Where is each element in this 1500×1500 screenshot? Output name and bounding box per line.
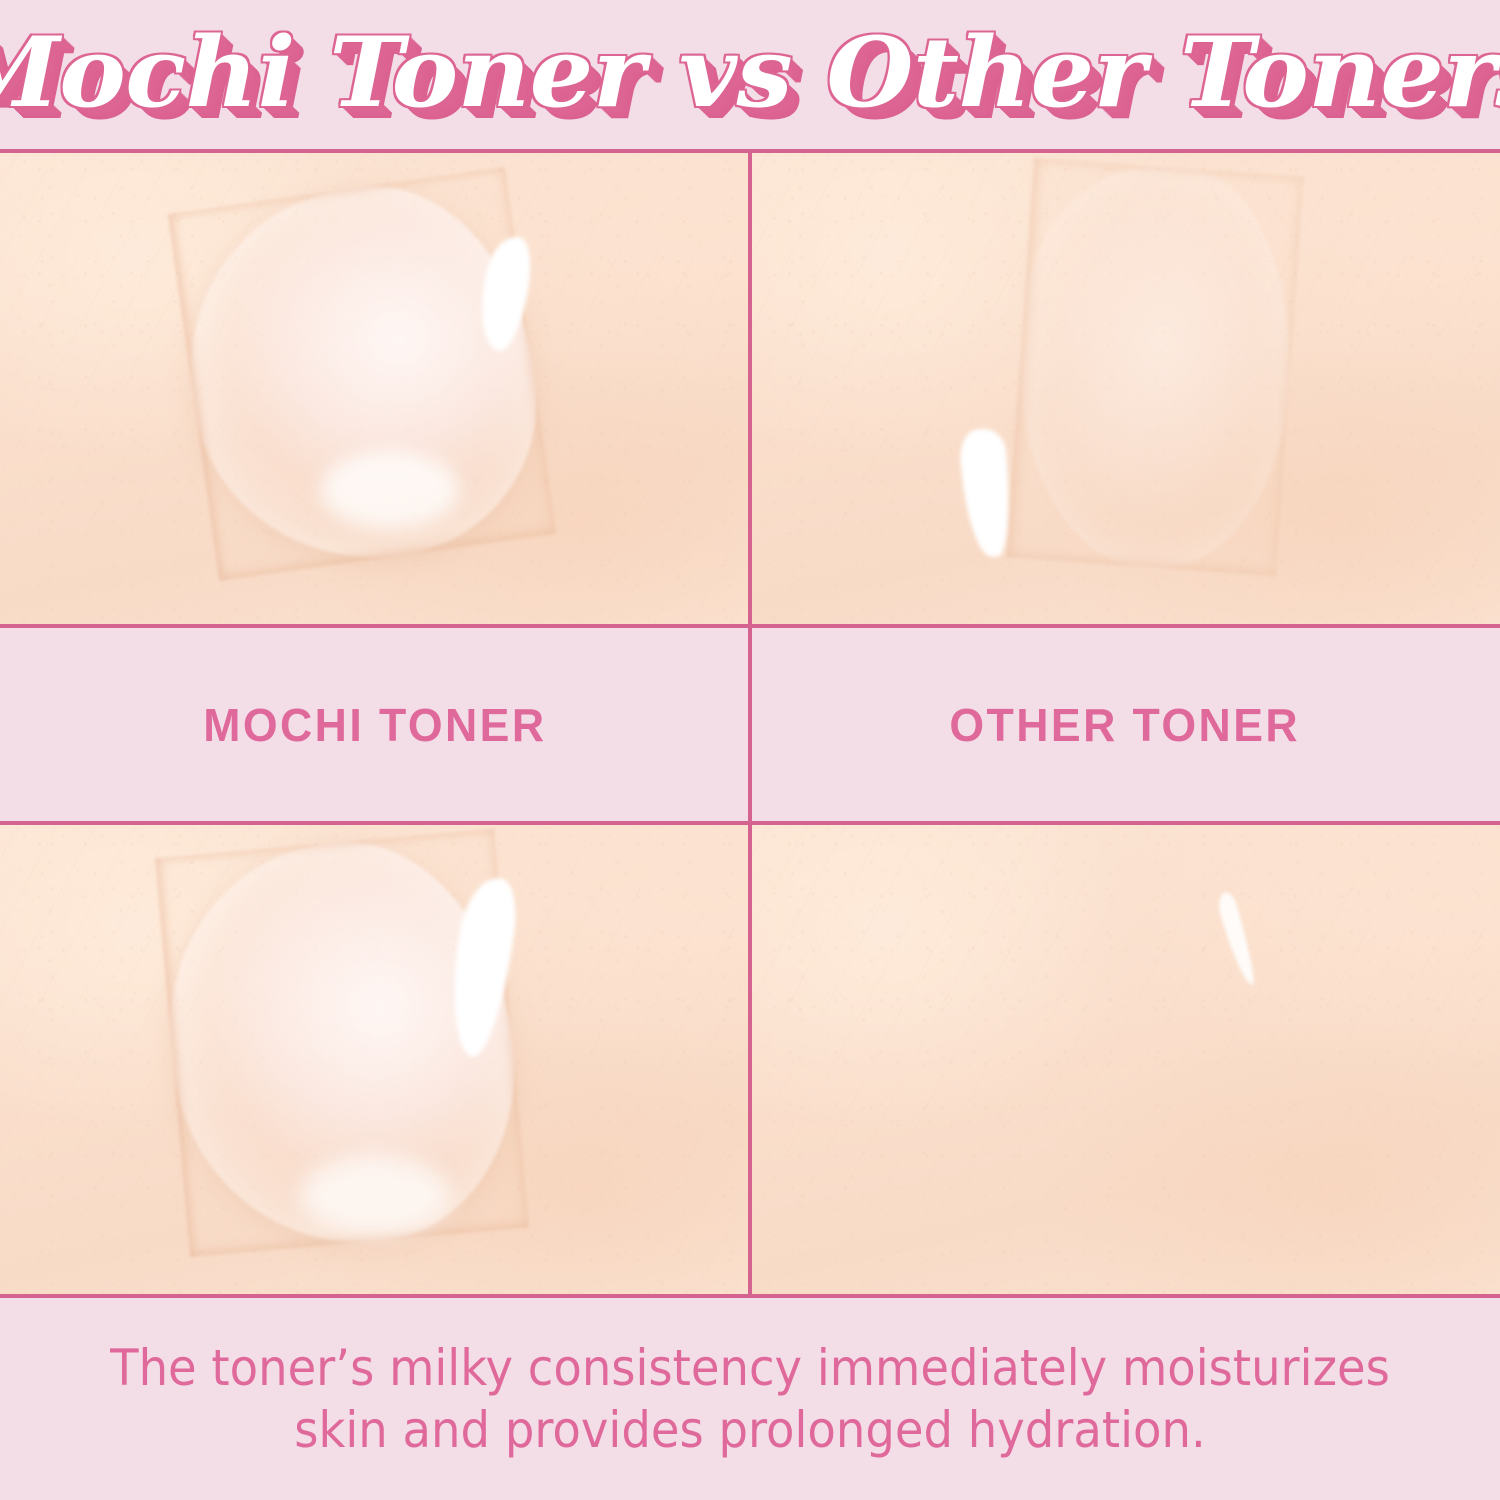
toner-droplet bbox=[1006, 158, 1303, 576]
skin-texture-overlay bbox=[750, 825, 1500, 1295]
droplet-soft-glow bbox=[300, 1155, 450, 1235]
swatch-other-toner-top bbox=[750, 151, 1500, 625]
label-cell-other-toner: OTHER TONER bbox=[750, 628, 1500, 821]
caption-text: The toner’s milky consistency immediatel… bbox=[85, 1337, 1415, 1461]
vertical-column-divider bbox=[748, 149, 752, 1298]
label-cell-mochi-toner: MOCHI TONER bbox=[0, 628, 750, 821]
product-comparison-poster: Mochi Toner vs Other Toners bbox=[0, 0, 1500, 1500]
caption-band: The toner’s milky consistency immediatel… bbox=[0, 1298, 1500, 1500]
swatch-mochi-toner-bottom bbox=[0, 825, 750, 1295]
droplet-soft-glow bbox=[320, 451, 460, 529]
swatch-other-toner-bottom bbox=[750, 825, 1500, 1295]
column-label-mochi-toner: MOCHI TONER bbox=[203, 698, 546, 752]
swatch-mochi-toner-top bbox=[0, 151, 750, 625]
poster-header: Mochi Toner vs Other Toners bbox=[0, 0, 1500, 151]
page-title: Mochi Toner vs Other Toners bbox=[0, 25, 1500, 127]
droplet-edge-shading bbox=[1006, 158, 1303, 576]
column-label-other-toner: OTHER TONER bbox=[950, 698, 1301, 752]
